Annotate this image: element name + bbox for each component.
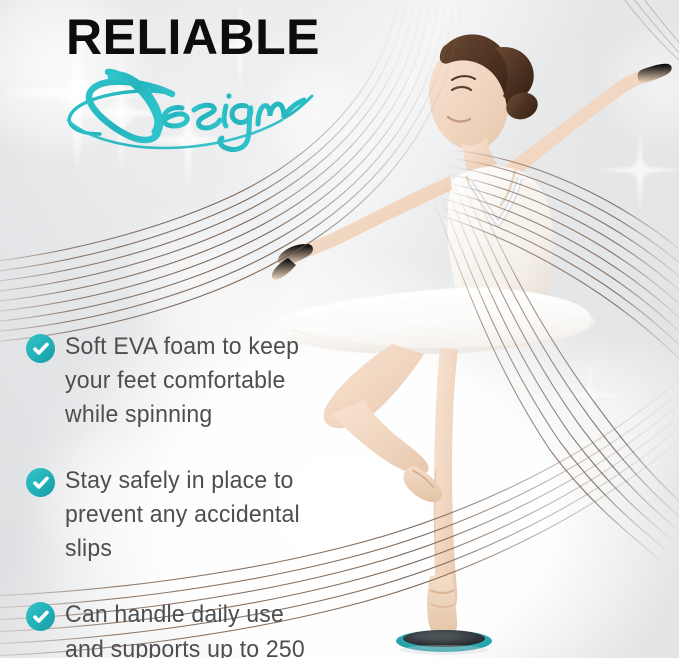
- turning-board-product: [396, 630, 492, 655]
- feature-text: Can handle daily use and supports up to …: [65, 598, 316, 658]
- check-circle-icon: [26, 468, 55, 497]
- feature-text: Soft EVA foam to keep your feet comforta…: [65, 330, 316, 432]
- list-item: Can handle daily use and supports up to …: [26, 598, 326, 658]
- dancer-head: [429, 34, 541, 149]
- page-title-design: [60, 62, 310, 150]
- feature-text: Stay safely in place to prevent any acci…: [65, 464, 316, 566]
- dancer-legs: [324, 344, 458, 612]
- feature-list: Soft EVA foam to keep your feet comforta…: [26, 330, 326, 658]
- list-item: Stay safely in place to prevent any acci…: [26, 464, 326, 566]
- check-circle-icon: [26, 334, 55, 363]
- dancer-left-arm: [272, 176, 452, 280]
- dancer-torso: [447, 138, 553, 306]
- page-title-reliable: RELIABLE: [66, 12, 320, 62]
- list-item: Soft EVA foam to keep your feet comforta…: [26, 330, 326, 432]
- check-circle-icon: [26, 602, 55, 631]
- product-feature-poster: RELIABLE: [0, 0, 679, 658]
